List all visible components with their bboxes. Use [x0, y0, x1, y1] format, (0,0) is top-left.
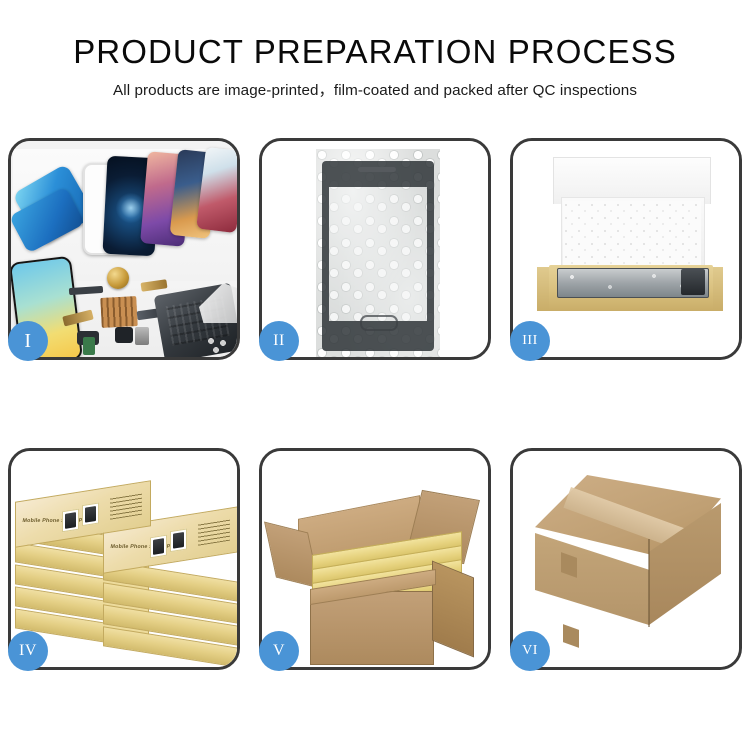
foam-padding: [563, 201, 701, 265]
step-photo-4: Mobile Phone Spare Parts Mobile Phone Sp…: [11, 451, 237, 667]
battery-part: [135, 327, 149, 345]
header: PRODUCT PREPARATION PROCESS All products…: [0, 0, 750, 101]
step-card-3[interactable]: III: [510, 138, 742, 360]
photo-sealed-carton: [513, 451, 739, 667]
tape-tab-lower: [563, 624, 579, 648]
step-badge-1: I: [8, 321, 48, 361]
page-title: PRODUCT PREPARATION PROCESS: [0, 0, 750, 72]
home-button-cutout: [360, 315, 398, 331]
step-photo-5: [262, 451, 488, 667]
photo-stacked-boxes: Mobile Phone Spare Parts Mobile Phone Sp…: [11, 451, 237, 667]
step-badge-4: IV: [8, 631, 48, 671]
step-card-1[interactable]: I: [8, 138, 240, 360]
step-badge-6: VI: [510, 631, 550, 671]
step-photo-6: [513, 451, 739, 667]
vibrator-part: [115, 327, 133, 343]
step-badge-5: V: [259, 631, 299, 671]
screws-part: [207, 337, 231, 353]
box-spec-lines-front: [198, 519, 230, 546]
box-spec-lines-back: [110, 493, 142, 520]
photo-open-inner-box: [513, 141, 739, 357]
step-card-4[interactable]: Mobile Phone Spare Parts Mobile Phone Sp…: [8, 448, 240, 670]
step-card-2[interactable]: II: [259, 138, 491, 360]
step-photo-3: [513, 141, 739, 357]
photo-carton-filling: [262, 451, 488, 667]
step-photo-1: [11, 141, 237, 357]
earpiece-slot: [358, 167, 396, 172]
step-photo-2: [262, 141, 488, 357]
box-art-screen-a: [150, 535, 167, 559]
product-preparation-infographic: PRODUCT PREPARATION PROCESS All products…: [0, 0, 750, 750]
photo-bubble-wrapped-screen: [262, 141, 488, 357]
page-subtitle: All products are image-printed，film-coat…: [0, 72, 750, 101]
speaker-coil-part: [107, 267, 129, 289]
box-art-screen-b: [170, 528, 187, 552]
step-card-6[interactable]: VI: [510, 448, 742, 670]
step-badge-3: III: [510, 321, 550, 361]
steps-grid: I II: [8, 138, 742, 670]
carton-right-face: [432, 561, 474, 658]
photo-phone-parts: [11, 141, 237, 357]
step-badge-2: II: [259, 321, 299, 361]
step-card-5[interactable]: V: [259, 448, 491, 670]
box-art-screen-c: [62, 509, 79, 533]
carton-front-face: [310, 591, 434, 665]
chip-grid-part: [100, 296, 138, 328]
packed-screen-end: [681, 269, 705, 295]
carton-edge-crease: [648, 539, 650, 627]
camera-module-part: [83, 337, 95, 355]
box-art-screen-d: [82, 502, 99, 526]
